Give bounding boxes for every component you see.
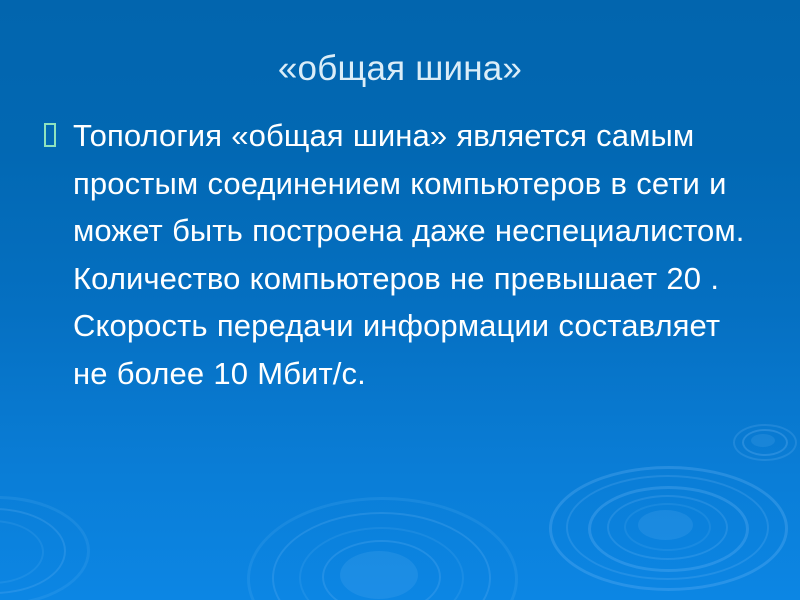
ripple-ring [624,503,711,551]
ripple-ring [733,424,797,461]
ripple-ring [588,486,749,572]
ripple-ring [607,495,728,560]
ripple-ring [566,475,769,580]
presentation-slide: «общая шина» Топология «общая шина» явля… [0,0,800,600]
ripple-core [340,551,418,599]
bullet-list-item: Топология «общая шина» является самым пр… [44,112,756,397]
ripple-ring [549,466,788,591]
ripple-ring [322,540,441,600]
bullet-item-text: Топология «общая шина» является самым пр… [73,112,756,397]
slide-title: «общая шина» [0,48,800,90]
ripple-ring [247,497,518,600]
ripple-core [751,434,775,447]
ripple-core [638,510,693,540]
ripple-ring [0,520,44,584]
ripple-ring [0,496,90,600]
ripple-ring [299,527,464,600]
ripple-ring [0,508,66,594]
hollow-square-bullet-icon [44,123,56,147]
ripple-ring [272,512,491,600]
ripple-ring [742,429,788,456]
slide-body: Топология «общая шина» является самым пр… [44,112,756,397]
